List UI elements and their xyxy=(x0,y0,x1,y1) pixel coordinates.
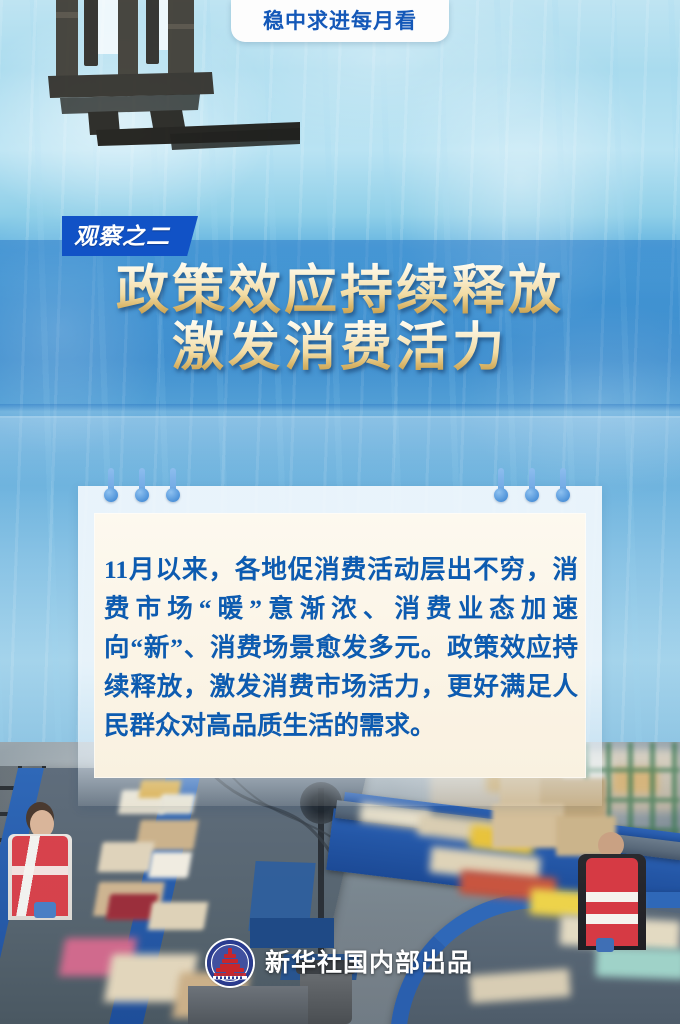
pin-head xyxy=(494,488,508,502)
pin-head xyxy=(556,488,570,502)
content-card-body: 11月以来，各地促消费活动层出不穷，消费市场“暖”意渐浓、消费业态加速向“新”、… xyxy=(104,550,578,745)
section-badge: 观察之二 xyxy=(62,216,198,256)
footer-credit: 新华社国内部出品 xyxy=(0,940,680,986)
xinhua-emblem-glyph xyxy=(207,940,253,986)
xinhua-emblem-icon xyxy=(207,940,253,986)
top-banner-pill: 稳中求进每月看 xyxy=(231,0,449,42)
poster-title-line-1: 政策效应持续释放 xyxy=(0,262,680,320)
footer-agency-label: 新华社国内部出品 xyxy=(265,951,473,976)
pin-head xyxy=(166,488,180,502)
parcel xyxy=(148,902,209,930)
poster-title-line-2: 激发消费活力 xyxy=(0,320,680,378)
pin-head xyxy=(525,488,539,502)
vest-reflective-stripe xyxy=(586,892,638,902)
poster-title: 政策效应持续释放 激发消费活力 xyxy=(0,262,680,378)
vest-reflective-stripe xyxy=(586,914,638,924)
pallet-base xyxy=(188,986,308,1024)
stacked-box xyxy=(492,804,564,848)
pin-head xyxy=(104,488,118,502)
parcel xyxy=(97,842,154,872)
section-badge-label: 观察之二 xyxy=(74,225,170,248)
poster-canvas: 稳中求进每月看 观察之二 政策效应持续释放 激发消费活力 11月以来，各地促消费… xyxy=(0,0,680,1024)
parcel xyxy=(148,852,193,878)
worker-glove-left xyxy=(34,902,56,918)
vest-reflective-stripe xyxy=(12,866,68,875)
pin-head xyxy=(135,488,149,502)
worker-safety-vest-right xyxy=(586,858,638,946)
top-banner-label: 稳中求进每月看 xyxy=(263,11,417,32)
background-band-light xyxy=(0,416,680,486)
